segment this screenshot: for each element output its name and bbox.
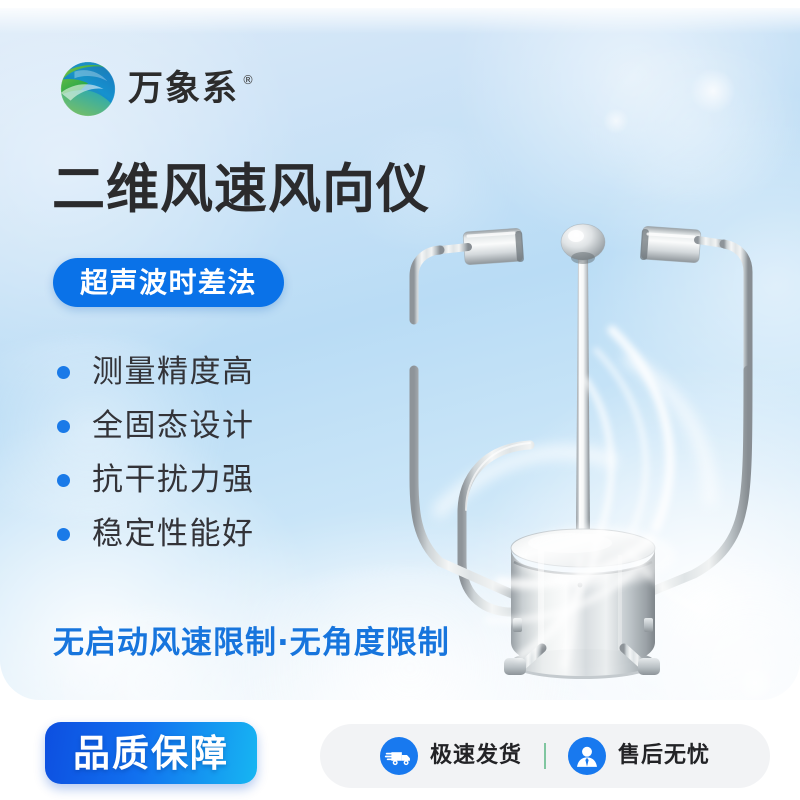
bullet-dot-icon bbox=[57, 528, 70, 541]
list-item: 全固态设计 bbox=[57, 411, 255, 442]
light-flare bbox=[690, 68, 736, 114]
cloud-blob bbox=[560, 48, 800, 198]
post-top-knob-icon bbox=[561, 224, 605, 264]
page-title: 二维风速风向仪 bbox=[52, 160, 430, 219]
feature-label: 稳定性能好 bbox=[92, 519, 255, 550]
list-item: 测量精度高 bbox=[57, 357, 255, 388]
method-badge-label: 超声波时差法 bbox=[80, 269, 257, 297]
right-ultrasonic-transducer bbox=[640, 226, 748, 370]
sky-top-fade bbox=[0, 8, 800, 34]
left-ultrasonic-transducer bbox=[414, 228, 524, 370]
quality-assurance-label: 品质保障 bbox=[73, 735, 229, 772]
list-item: 稳定性能好 bbox=[57, 519, 255, 550]
list-item: 抗干扰力强 bbox=[57, 465, 255, 496]
product-image bbox=[380, 210, 780, 680]
feature-label: 抗干扰力强 bbox=[92, 465, 255, 496]
customer-service-person-icon bbox=[568, 737, 606, 775]
ultrasonic-anemometer-illustration bbox=[380, 210, 780, 680]
brand-name-text: 万象系 bbox=[128, 72, 239, 107]
feature-label: 全固态设计 bbox=[92, 411, 255, 442]
registered-trademark-icon: ® bbox=[242, 74, 256, 86]
product-poster: 万象系 ® 二维风速风向仪 超声波时差法 测量精度高 全固态设计 抗干扰力强 稳… bbox=[0, 0, 800, 800]
quality-assurance-badge: 品质保障 bbox=[45, 722, 257, 784]
trust-label-shipping: 极速发货 bbox=[430, 745, 522, 767]
brand-logo: 万象系 ® bbox=[57, 58, 256, 120]
wind-glow bbox=[516, 526, 676, 586]
trust-label-aftersales: 售后无忧 bbox=[618, 745, 710, 767]
brand-name-group: 万象系 ® bbox=[128, 72, 256, 107]
trust-item-shipping: 极速发货 bbox=[358, 737, 544, 775]
bullet-dot-icon bbox=[57, 366, 70, 379]
trust-item-aftersales: 售后无忧 bbox=[546, 737, 732, 775]
globe-swirl-logo-icon bbox=[57, 58, 119, 120]
method-badge: 超声波时差法 bbox=[53, 258, 284, 307]
bullet-dot-icon bbox=[57, 474, 70, 487]
feature-label: 测量精度高 bbox=[92, 357, 255, 388]
light-flare bbox=[603, 108, 629, 134]
bullet-dot-icon bbox=[57, 420, 70, 433]
trust-separator bbox=[544, 743, 546, 769]
central-post bbox=[576, 258, 590, 540]
delivery-truck-icon bbox=[380, 737, 418, 775]
feature-list: 测量精度高 全固态设计 抗干扰力强 稳定性能好 bbox=[57, 357, 255, 550]
trust-strip: 极速发货 售后无忧 bbox=[320, 724, 770, 788]
